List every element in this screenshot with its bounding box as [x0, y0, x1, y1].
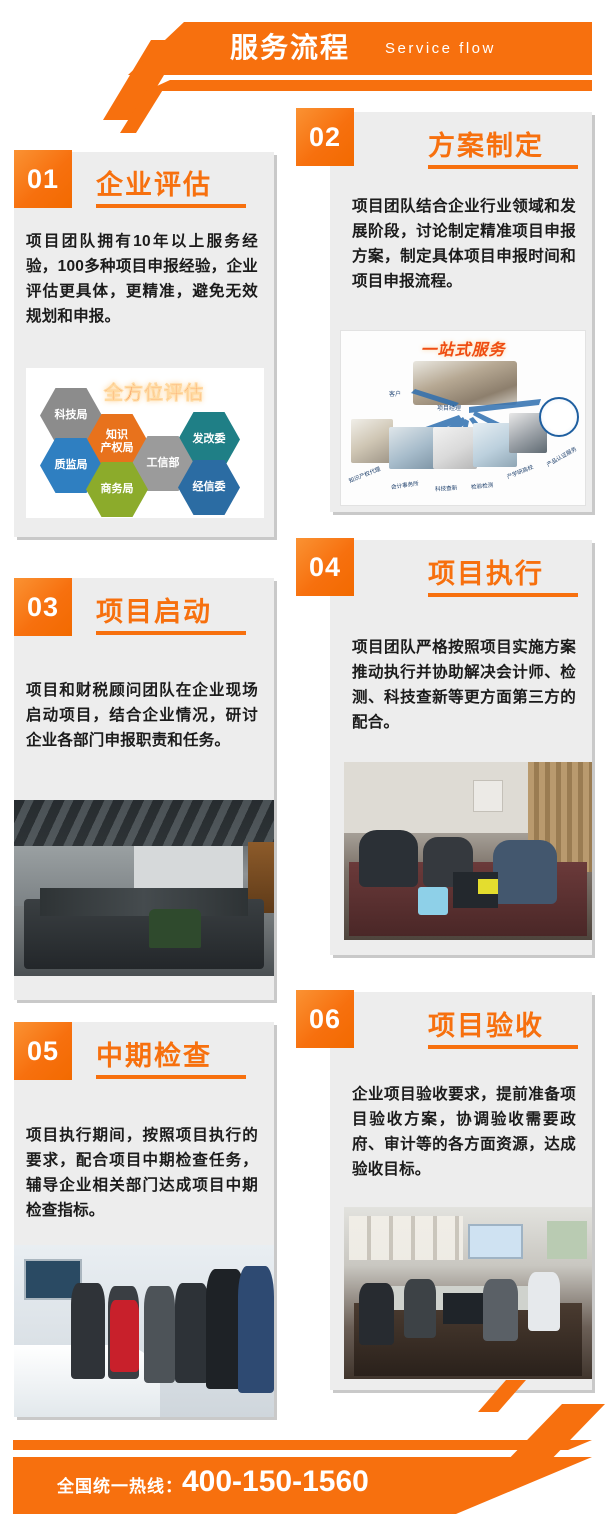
step-body-05: 项目执行期间，按照项目执行的要求，配合项目中期检查任务，辅导企业相关部门达成项目… — [26, 1123, 258, 1223]
step-photo-06 — [344, 1207, 592, 1379]
service-node-manager: 项目经理 — [437, 403, 461, 412]
step-title-03: 项目启动 — [96, 590, 212, 629]
step-body-03: 项目和财税顾问团队在企业现场启动项目，结合企业情况，研讨企业各部门申报职责和任务… — [26, 678, 258, 753]
service-node-customer: 客户 — [389, 389, 401, 398]
step-number-badge-05: 05 — [14, 1022, 72, 1080]
step-photo-03 — [14, 800, 274, 976]
hotline-number: 400-150-1560 — [182, 1465, 369, 1499]
step-number-badge-04: 04 — [296, 538, 354, 596]
page-subtitle: Service flow — [385, 38, 496, 60]
service-leaf-label-3: 科技查新 — [435, 483, 458, 493]
step-number-badge-06: 06 — [296, 990, 354, 1048]
step-title-04: 项目执行 — [428, 552, 544, 591]
step-title-02: 方案制定 — [428, 124, 544, 163]
title-underline-01 — [96, 204, 246, 208]
step-title-05: 中期检查 — [96, 1034, 212, 1073]
service-leaf-thumb-2 — [389, 427, 437, 469]
title-underline-05 — [96, 1075, 246, 1079]
step-number-badge-02: 02 — [296, 108, 354, 166]
step-body-06: 企业项目验收要求，提前准备项目验收方案，协调验收需要政府、审计等的各方面资源，达… — [352, 1082, 576, 1182]
service-leaf-thumb-1 — [351, 419, 393, 463]
footer-accent-stripe — [13, 1440, 592, 1450]
step-photo-04 — [344, 762, 592, 940]
step-photo-05 — [14, 1245, 274, 1417]
title-underline-04 — [428, 593, 578, 597]
step-body-02: 项目团队结合企业行业领域和发展阶段，讨论制定精准项目申报方案，制定具体项目申报时… — [352, 194, 576, 294]
step-body-04: 项目团队严格按照项目实施方案推动执行并协助解决会计师、检测、科技查新等更方面第三… — [352, 635, 576, 735]
step-number-badge-01: 01 — [14, 150, 72, 208]
title-underline-06 — [428, 1045, 578, 1049]
step-title-06: 项目验收 — [428, 1004, 544, 1043]
hotline-label: 全国统一热线： — [57, 1472, 183, 1497]
page-footer: 全国统一热线： 400-150-1560 — [0, 1404, 605, 1524]
hexagon-diagram-title: 全方位评估 — [104, 378, 204, 405]
step-title-01: 企业评估 — [96, 163, 212, 202]
hexagon-diagram: 全方位评估 科技局 知识 产权局 发改委 质监局 工信部 商务局 经信委 — [26, 368, 264, 518]
certification-seal-icon — [539, 397, 579, 437]
page-header: 服务流程 Service flow — [0, 0, 605, 108]
step-number-badge-03: 03 — [14, 578, 72, 636]
service-leaf-thumb-3 — [433, 427, 477, 469]
step-body-01: 项目团队拥有10年以上服务经验，100多种项目申报经验，企业评估更具体，更精准，… — [26, 229, 258, 329]
header-banner — [128, 22, 592, 75]
page-title: 服务流程 — [230, 26, 350, 70]
header-accent-stripe — [146, 80, 592, 91]
one-stop-service-diagram: 一站式服务 客户 项目经理 知识产权代理 会计事务所 科技查新 — [340, 330, 586, 506]
infographic-page: 服务流程 Service flow 01 企业评估 项目团队拥有10年以上服务经… — [0, 0, 605, 1538]
title-underline-02 — [428, 165, 578, 169]
title-underline-03 — [96, 631, 246, 635]
